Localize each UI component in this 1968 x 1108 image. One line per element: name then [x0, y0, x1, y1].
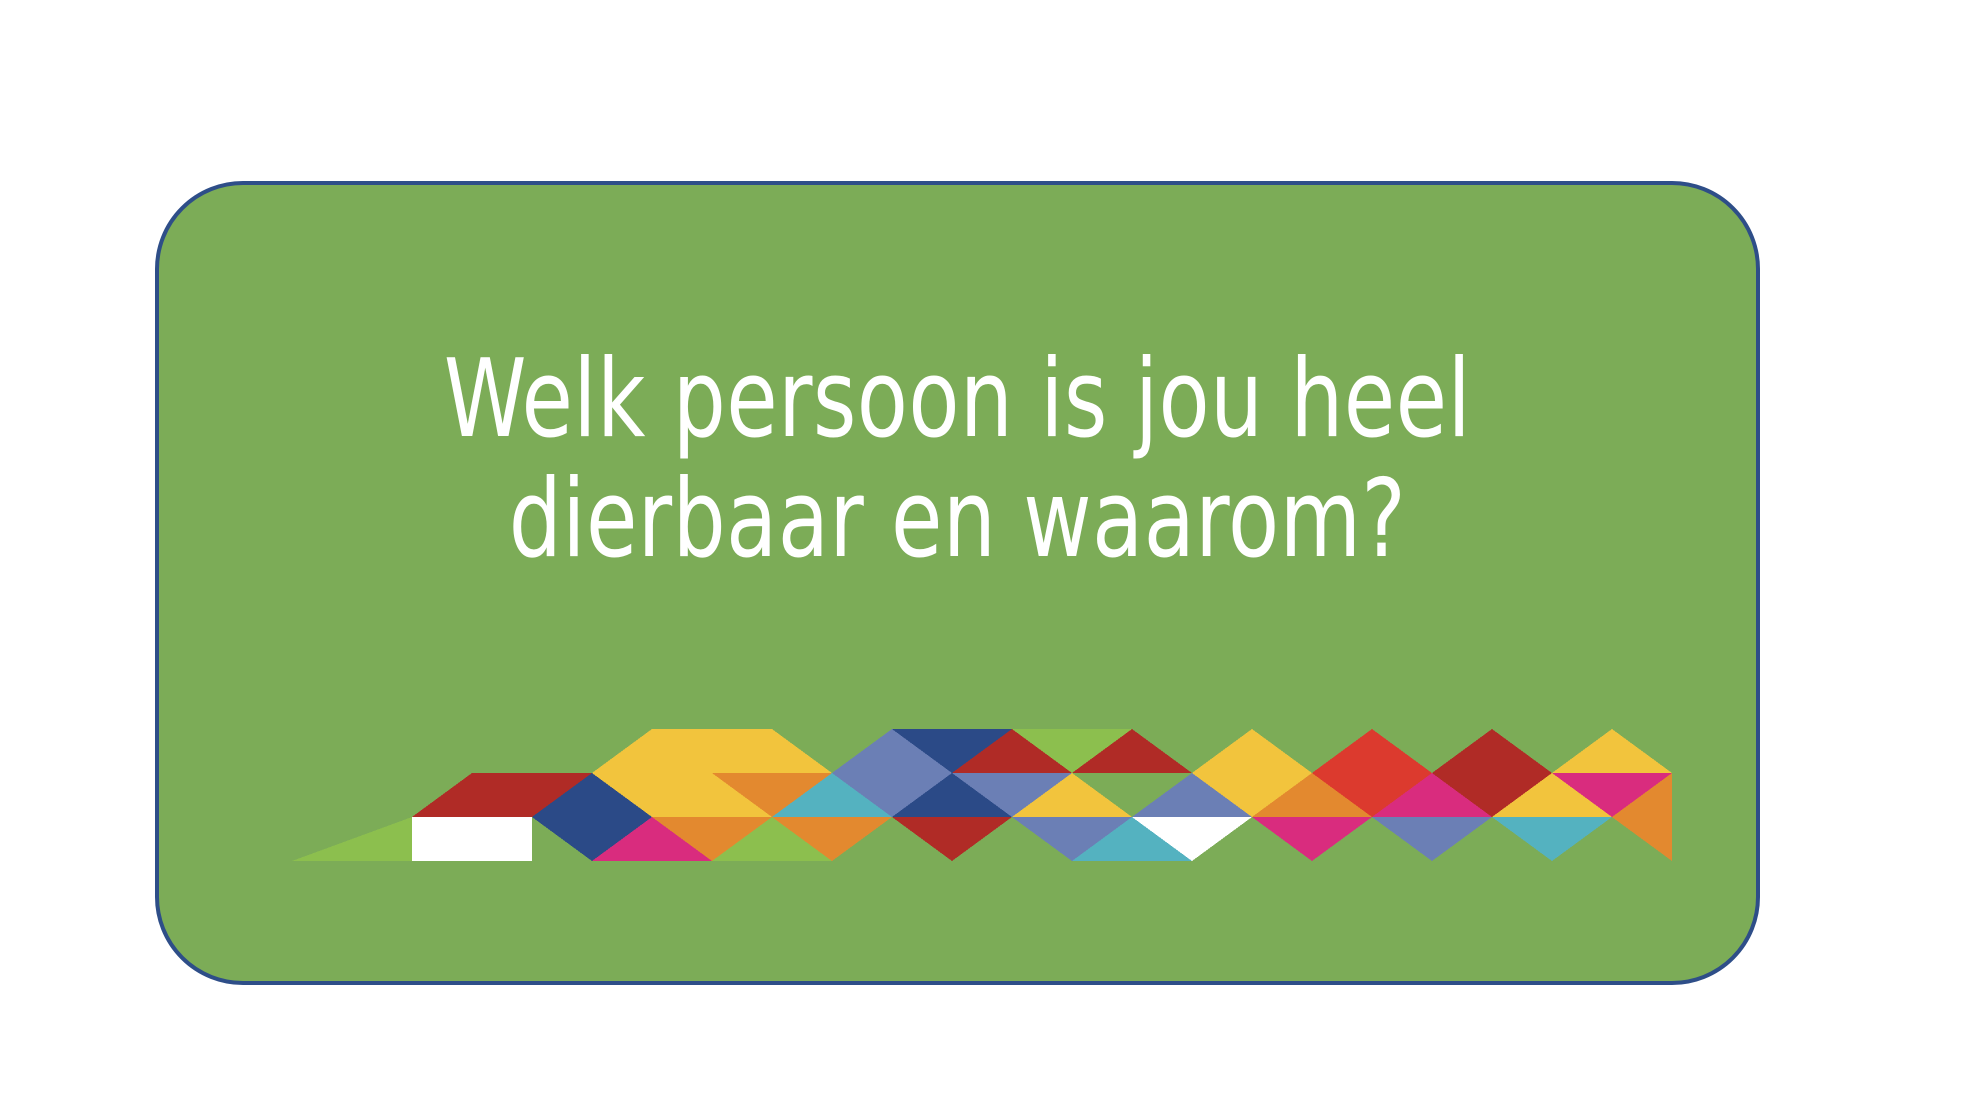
triangle-shape [1492, 817, 1612, 861]
triangle-shape [892, 817, 1012, 861]
triangle-shape [1552, 729, 1672, 773]
triangle-shape [1432, 729, 1552, 773]
triangle-band-decoration [232, 729, 1672, 861]
question-line-1: Welk persoon is jou heel [271, 340, 1644, 460]
triangle-shape [412, 817, 532, 861]
triangle-shape [1192, 729, 1312, 773]
question-card: Welk persoon is jou heel dierbaar en waa… [155, 181, 1760, 985]
triangle-band-svg [232, 729, 1672, 861]
slide-canvas: Welk persoon is jou heel dierbaar en waa… [0, 0, 1968, 1108]
triangle-shape [1372, 817, 1492, 861]
triangle-shape [1312, 729, 1432, 773]
question-line-2: dierbaar en waarom? [271, 460, 1644, 580]
page-title: Welk persoon is jou heel dierbaar en waa… [271, 340, 1644, 580]
triangle-shape [292, 817, 412, 861]
triangle-shape [1252, 817, 1372, 861]
